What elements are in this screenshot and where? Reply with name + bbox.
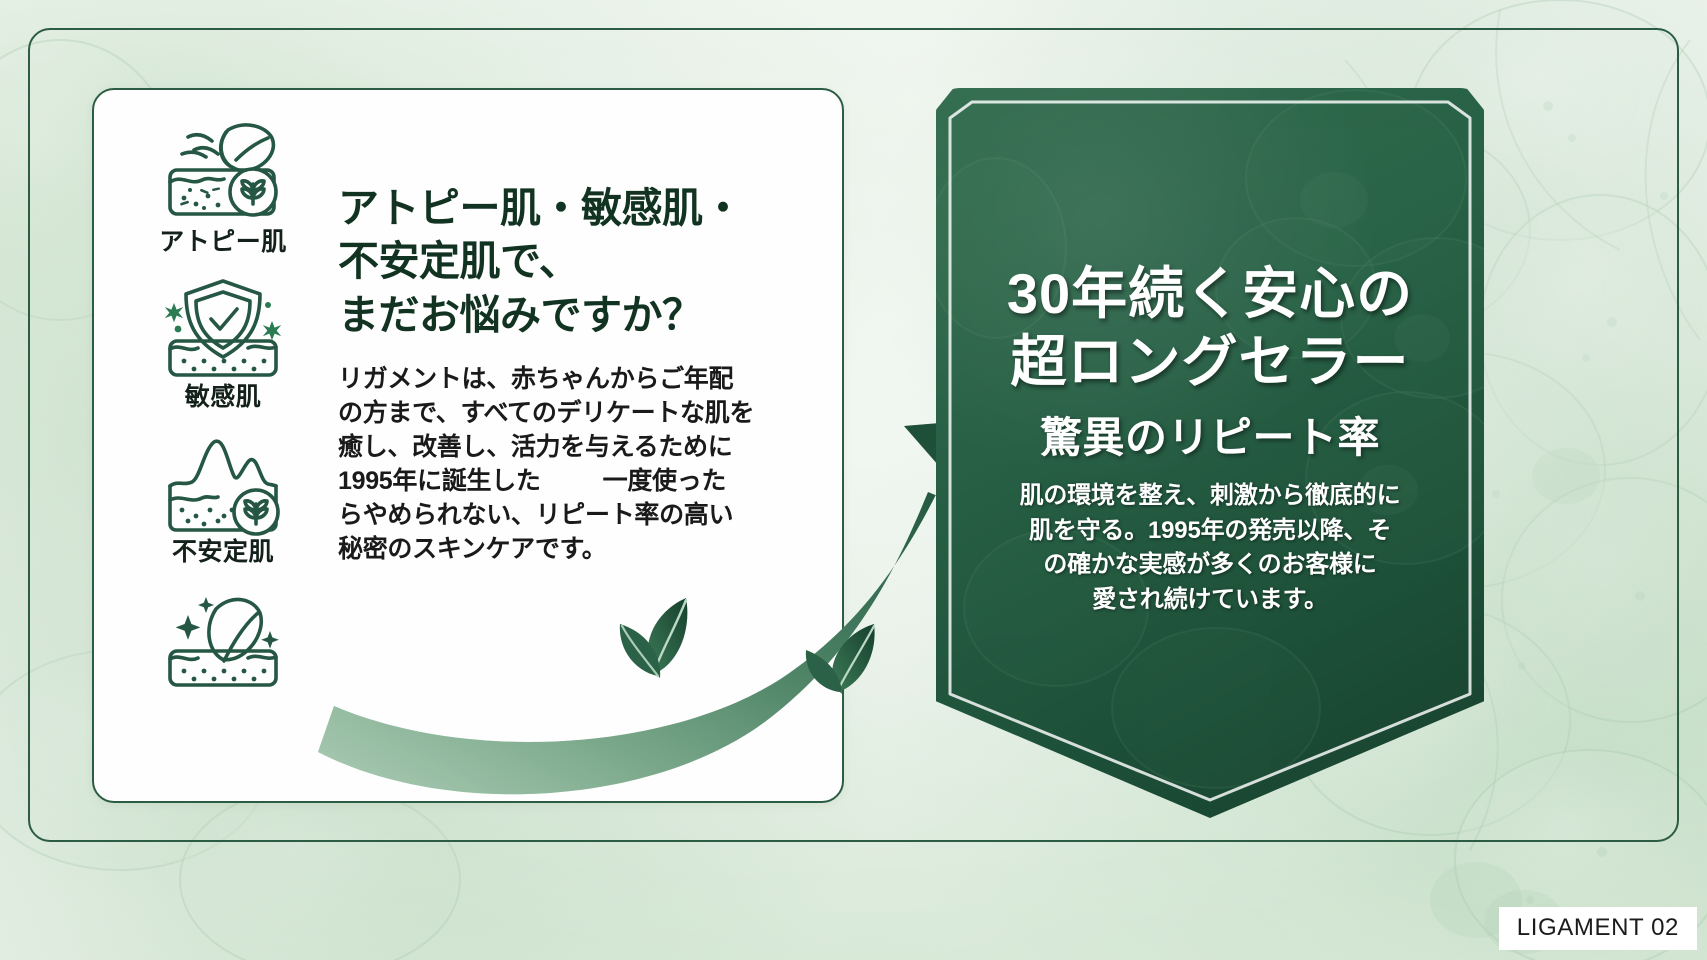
- body-line: の方まで、すべてのデリケートな肌を: [338, 396, 808, 430]
- hero-body-line: の確かな実感が多くのお客様に: [970, 548, 1450, 583]
- hero-body-line: 愛され続けています。: [970, 583, 1450, 618]
- body-line: 1995年に誕生した: [338, 467, 541, 495]
- hero-text-block: 30年続く安心の 超ロングセラー 驚異のリピート率 肌の環境を整え、刺激から徹底…: [936, 260, 1484, 617]
- skin-cross-section-with-leaf-icon: [148, 110, 298, 228]
- body-line: リガメントは、赤ちゃんからご年配: [338, 362, 808, 396]
- body-line: 一度使った: [603, 467, 727, 495]
- skin-condition-icon-list: アトピー肌: [120, 110, 326, 790]
- hero-title: 30年続く安心の 超ロングセラー: [970, 260, 1450, 397]
- hero-title-line: 超ロングセラー: [970, 328, 1450, 396]
- headline-line: まだお悩みですか？: [338, 289, 808, 342]
- slide-watermark: LIGAMENT 02: [1499, 907, 1697, 950]
- body-line: 癒し、改善し、活力を与えるために: [338, 430, 808, 464]
- list-item: [148, 575, 298, 693]
- shield-check-skin-icon: [148, 265, 298, 383]
- list-item: 敏感肌: [148, 265, 298, 410]
- hero-body-copy: 肌の環境を整え、刺激から徹底的に 肌を守る。1995年の発売以降、そ の確かな実…: [970, 479, 1450, 617]
- hero-shield-panel: 30年続く安心の 超ロングセラー 驚異のリピート率 肌の環境を整え、刺激から徹底…: [936, 88, 1484, 818]
- hero-body-line: 肌を守る。1995年の発売以降、そ: [970, 514, 1450, 549]
- leaf-sparkle-skin-icon: [148, 575, 298, 693]
- icon-label: アトピー肌: [159, 230, 287, 255]
- headline-line: 不安定肌で、: [338, 235, 808, 288]
- headline-line: アトピー肌・敏感肌・: [338, 182, 808, 235]
- problem-text-block: アトピー肌・敏感肌・ 不安定肌で、 まだお悩みですか？ リガメントは、赤ちゃんか…: [338, 182, 808, 566]
- body-line: 秘密のスキンケアです。: [338, 532, 808, 566]
- slide-canvas: アトピー肌: [0, 0, 1707, 960]
- hero-body-line: 肌の環境を整え、刺激から徹底的に: [970, 479, 1450, 514]
- body-line-split: 1995年に誕生した一度使った: [338, 464, 808, 498]
- unstable-skin-spike-icon: [148, 420, 298, 538]
- icon-label: 敏感肌: [185, 385, 262, 410]
- list-item: アトピー肌: [148, 110, 298, 255]
- icon-label: 不安定肌: [172, 540, 274, 565]
- page-title: アトピー肌・敏感肌・ 不安定肌で、 まだお悩みですか？: [338, 182, 808, 342]
- hero-title-line: 30年続く安心の: [970, 260, 1450, 328]
- hero-subtitle: 驚異のリピート率: [970, 413, 1450, 463]
- list-item: 不安定肌: [148, 420, 298, 565]
- problem-body-copy: リガメントは、赤ちゃんからご年配 の方まで、すべてのデリケートな肌を 癒し、改善…: [338, 362, 808, 566]
- body-line: らやめられない、リピート率の高い: [338, 498, 808, 532]
